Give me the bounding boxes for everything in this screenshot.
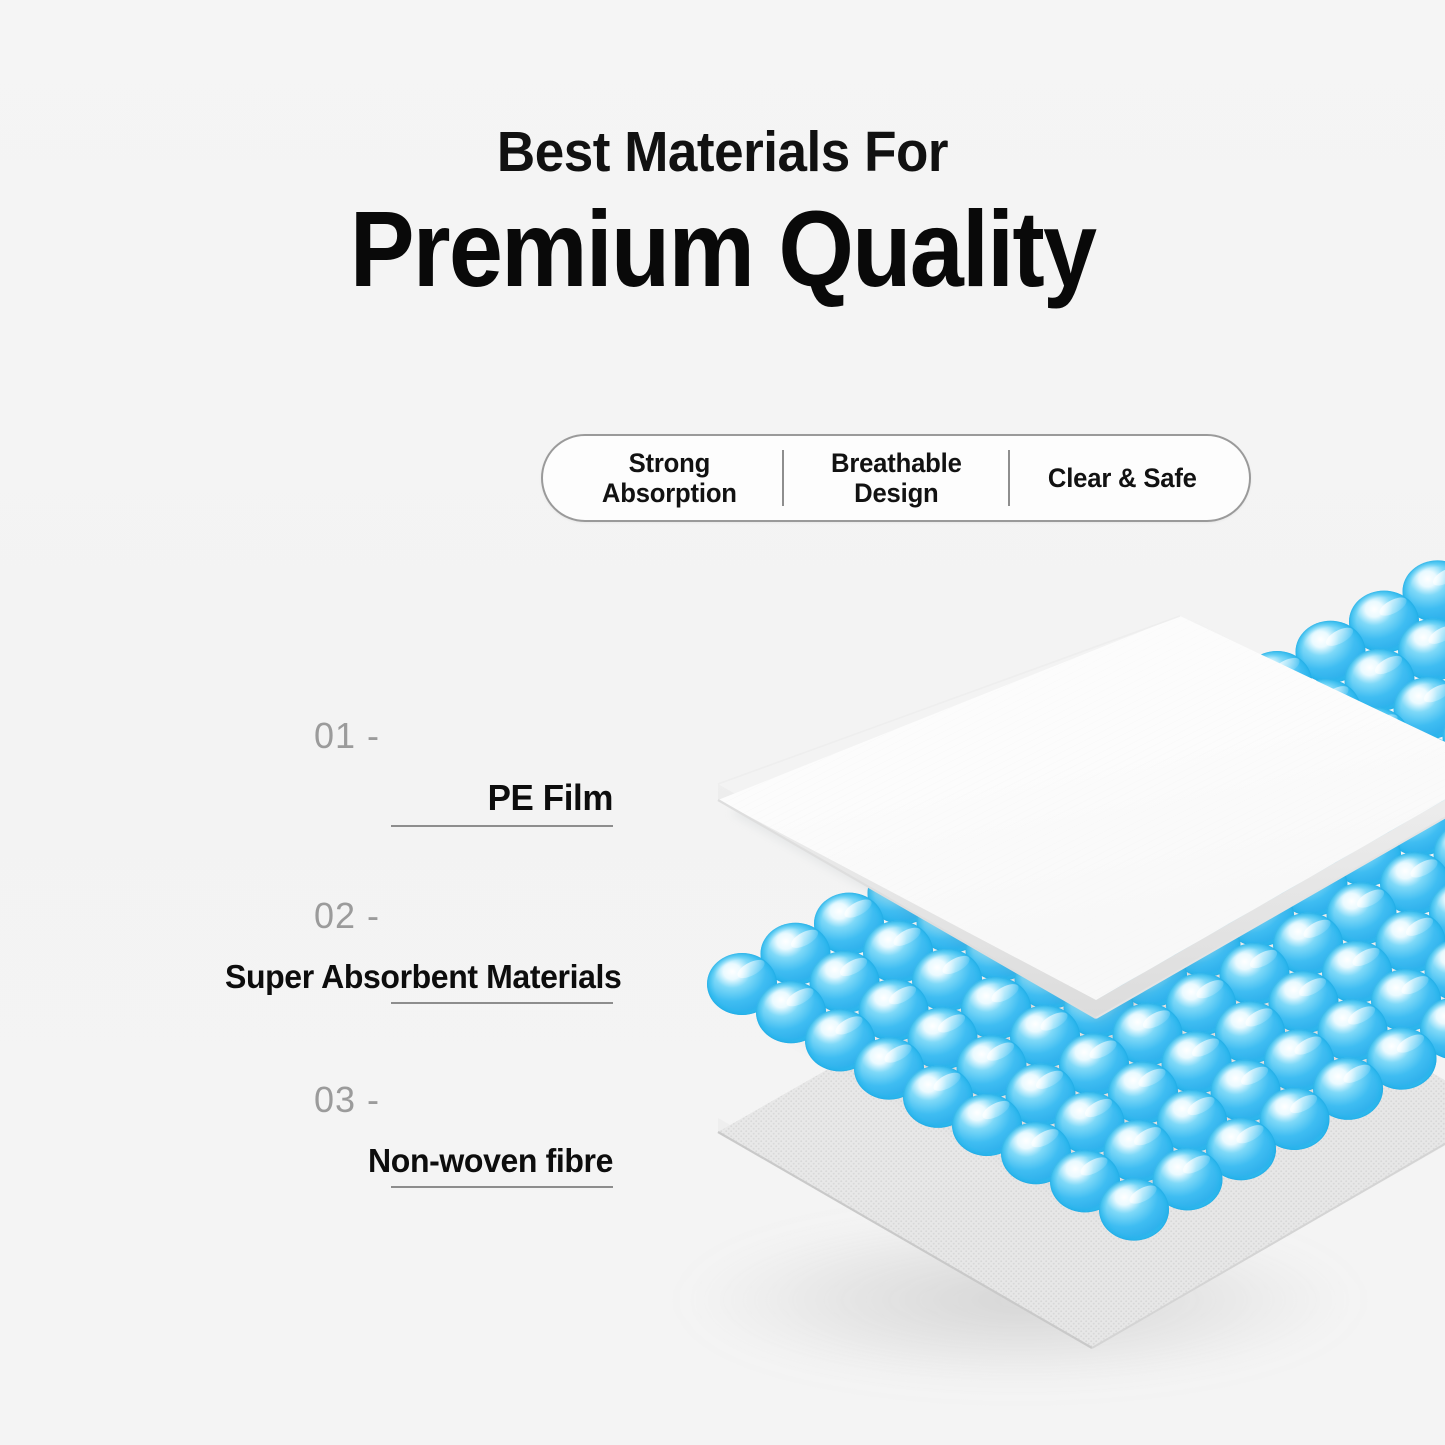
absorbent-bead bbox=[1059, 1034, 1129, 1096]
absorbent-bead bbox=[1189, 681, 1259, 743]
absorbent-bead bbox=[1126, 828, 1196, 890]
absorbent-bead bbox=[1024, 830, 1094, 892]
absorbent-bead bbox=[1010, 1005, 1080, 1067]
absorbent-bead bbox=[1371, 969, 1441, 1031]
absorbent-bead bbox=[1166, 973, 1236, 1035]
feature-pill: Strong Absorption Breathable Design Clea… bbox=[541, 434, 1251, 522]
absorbent-bead bbox=[1425, 939, 1445, 1001]
absorbent-bead bbox=[1006, 1064, 1076, 1126]
layer-name-03: Non-woven fibre bbox=[322, 1144, 613, 1177]
absorbent-bead bbox=[1296, 621, 1366, 683]
absorbent-bead bbox=[1367, 1028, 1437, 1090]
absorbent-bead bbox=[975, 802, 1045, 864]
absorbent-bead bbox=[1434, 822, 1445, 884]
layer-number-02: 02 - bbox=[213, 898, 613, 934]
absorbent-bead bbox=[859, 979, 929, 1041]
absorbent-bead bbox=[1215, 1001, 1285, 1063]
layer-rule-03 bbox=[391, 1186, 613, 1188]
layer-label-02: 02 - Super Absorbent Materials bbox=[213, 898, 613, 1004]
absorbent-bead bbox=[970, 860, 1040, 922]
absorbent-bead bbox=[1398, 619, 1445, 681]
absorbent-bead bbox=[1108, 1062, 1178, 1124]
absorbent-bead bbox=[1175, 856, 1245, 918]
layer-rule-01 bbox=[391, 825, 613, 827]
absorbent-bead bbox=[1313, 1058, 1383, 1120]
absorbent-bead bbox=[810, 951, 880, 1013]
absorbent-bead bbox=[1273, 913, 1343, 975]
absorbent-bead bbox=[1349, 591, 1419, 653]
absorbent-bead bbox=[1380, 852, 1445, 914]
absorbent-bead bbox=[761, 923, 831, 985]
absorbent-bead bbox=[756, 981, 826, 1043]
absorbent-bead bbox=[1322, 941, 1392, 1003]
absorbent-bead bbox=[1073, 858, 1143, 920]
absorbent-bead bbox=[1264, 1030, 1334, 1092]
absorbent-bead bbox=[1113, 1003, 1183, 1065]
absorbent-bead bbox=[1229, 826, 1299, 888]
absorbent-bead bbox=[1082, 742, 1152, 804]
pill-divider-2 bbox=[1008, 450, 1010, 506]
absorbent-bead bbox=[921, 832, 991, 894]
absorbent-bead bbox=[912, 949, 982, 1011]
absorbent-bead bbox=[1331, 824, 1401, 886]
absorbent-bead bbox=[1001, 1122, 1071, 1184]
absorbent-bead bbox=[1291, 679, 1361, 741]
absorbent-bead bbox=[1131, 770, 1201, 832]
absorbent-bead bbox=[908, 1007, 978, 1069]
infographic-canvas: Best Materials For Premium Quality Stron… bbox=[0, 0, 1445, 1445]
layer-label-03: 03 - Non-woven fibre bbox=[313, 1082, 613, 1188]
absorbent-bead bbox=[1135, 711, 1205, 773]
layer-label-01: 01 - PE Film bbox=[313, 718, 613, 827]
non-woven-fibre-sheet bbox=[718, 898, 1445, 1348]
absorbent-bead bbox=[854, 1038, 924, 1100]
heading-block: Best Materials For Premium Quality bbox=[0, 124, 1445, 303]
absorbent-bead bbox=[1403, 560, 1445, 622]
absorbent-bead bbox=[1068, 917, 1138, 979]
absorbent-bead bbox=[1184, 740, 1254, 802]
absorbent-bead bbox=[1055, 1092, 1125, 1154]
absorbent-bead bbox=[1171, 915, 1241, 977]
absorbent-bead bbox=[1099, 1179, 1169, 1241]
absorbent-bead bbox=[1260, 1088, 1330, 1150]
layer-number-01: 01 - bbox=[313, 718, 613, 754]
heading-eyebrow: Best Materials For bbox=[51, 124, 1395, 181]
feature-strong-absorption: Strong Absorption bbox=[563, 448, 776, 508]
absorbent-bead bbox=[1104, 1120, 1174, 1182]
absorbent-bead bbox=[1242, 651, 1312, 713]
absorbent-bead bbox=[1327, 883, 1397, 945]
absorbent-bead bbox=[1206, 1118, 1276, 1180]
absorbent-bead bbox=[952, 1094, 1022, 1156]
absorbent-bead bbox=[1385, 794, 1445, 856]
absorbent-bead-grid bbox=[707, 530, 1445, 1240]
layer-name-02: Super Absorbent Materials bbox=[225, 960, 613, 993]
absorbent-bead bbox=[1278, 854, 1348, 916]
absorbent-bead bbox=[1345, 649, 1415, 711]
absorbent-bead bbox=[1287, 738, 1357, 800]
absorbent-bead bbox=[1077, 800, 1147, 862]
absorbent-bead bbox=[863, 921, 933, 983]
absorbent-bead bbox=[1394, 677, 1445, 739]
layer-name-01: PE Film bbox=[322, 780, 613, 816]
absorbent-bead bbox=[1162, 1032, 1232, 1094]
absorbent-bead bbox=[1157, 1090, 1227, 1152]
absorbent-bead bbox=[1429, 881, 1445, 943]
absorbent-bead bbox=[966, 919, 1036, 981]
absorbent-bead bbox=[1233, 768, 1303, 830]
absorbent-bead bbox=[1282, 796, 1352, 858]
absorbent-bead bbox=[1117, 945, 1187, 1007]
absorbent-bead bbox=[1238, 709, 1308, 771]
absorbent-bead bbox=[814, 893, 884, 955]
layer-rule-02 bbox=[391, 1002, 613, 1004]
absorbent-bead bbox=[1064, 975, 1134, 1037]
heading-headline: Premium Quality bbox=[72, 195, 1373, 303]
absorbent-bead bbox=[868, 862, 938, 924]
absorbent-bead bbox=[707, 953, 777, 1015]
absorbent-bead bbox=[1269, 971, 1339, 1033]
absorbent-bead bbox=[1336, 766, 1406, 828]
absorbent-bead bbox=[961, 977, 1031, 1039]
absorbent-bead bbox=[1019, 889, 1089, 951]
bead-grid-shadow bbox=[760, 806, 1445, 1228]
absorbent-bead bbox=[805, 1009, 875, 1071]
absorbent-bead bbox=[1153, 1148, 1223, 1210]
absorbent-bead bbox=[1318, 999, 1388, 1061]
absorbent-bead bbox=[1340, 707, 1410, 769]
absorbent-bead bbox=[957, 1036, 1027, 1098]
absorbent-bead bbox=[1211, 1060, 1281, 1122]
absorbent-bead bbox=[1050, 1150, 1120, 1212]
absorbent-bead bbox=[1122, 887, 1192, 949]
absorbent-bead bbox=[1438, 764, 1445, 826]
absorbent-bead bbox=[917, 891, 987, 953]
absorbent-bead bbox=[1015, 947, 1085, 1009]
pe-film-sheet bbox=[718, 616, 1445, 1022]
absorbent-bead bbox=[1028, 772, 1098, 834]
feature-breathable-design: Breathable Design bbox=[789, 448, 1002, 508]
ground-shadow bbox=[680, 1212, 1360, 1388]
absorbent-bead bbox=[1220, 943, 1290, 1005]
absorbent-bead bbox=[1420, 997, 1445, 1059]
absorbent-bead bbox=[1224, 885, 1294, 947]
absorbent-bead bbox=[1376, 911, 1445, 973]
pill-divider-1 bbox=[782, 450, 784, 506]
absorbent-bead bbox=[1180, 798, 1250, 860]
feature-clear-and-safe: Clear & Safe bbox=[1016, 463, 1229, 493]
absorbent-bead bbox=[1389, 736, 1445, 798]
layer-number-03: 03 - bbox=[313, 1082, 613, 1118]
absorbent-bead bbox=[903, 1066, 973, 1128]
